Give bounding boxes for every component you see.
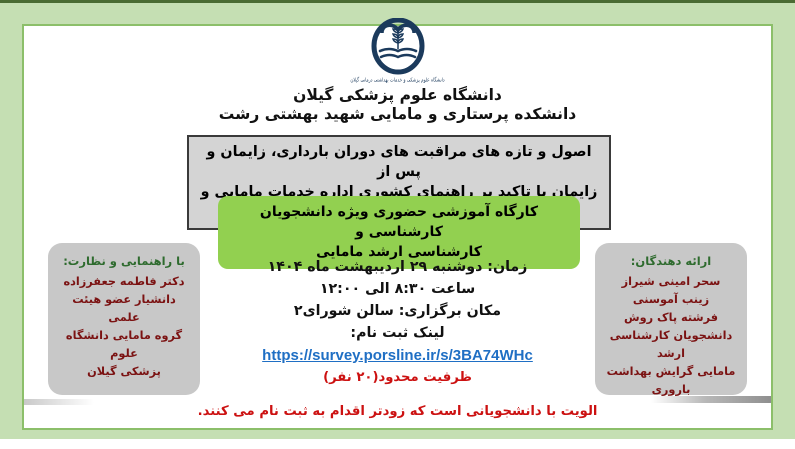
event-time: ساعت ۸:۳۰ الی ۱۲:۰۰ <box>210 278 585 300</box>
university-logo: دانشگاه علوم پزشکی و خدمات بهداشتی درمان… <box>0 18 795 82</box>
event-details: زمان: دوشنبه ۲۹ اردیبهشت ماه ۱۴۰۴ ساعت ۸… <box>210 256 585 388</box>
registration-link-label: لینک ثبت نام: <box>210 322 585 344</box>
supervision-line: پزشکی گیلان <box>56 363 192 381</box>
event-date: زمان: دوشنبه ۲۹ اردیبهشت ماه ۱۴۰۴ <box>210 256 585 278</box>
event-venue: مکان برگزاری: سالن شورای۲ <box>210 300 585 322</box>
ministry-of-health-emblem-icon <box>371 18 425 76</box>
presenter-line: مامایی گرایش بهداشت باروری <box>603 363 739 399</box>
supervision-line: دانشیار عضو هیئت علمی <box>56 291 192 327</box>
presenter-line: زینب آموسنی <box>603 291 739 309</box>
priority-note: الویت با دانشجویانی است که زودتر اقدام ب… <box>120 402 675 422</box>
supervision-line: گروه مامایی دانشگاه علوم <box>56 327 192 363</box>
faculty-name: دانشکده پرستاری و مامایی شهید بهشتی رشت <box>0 105 795 124</box>
university-name: دانشگاه علوم پزشکی گیلان <box>0 86 795 105</box>
decorative-shadow-left <box>24 399 94 405</box>
audience-line-1: کارگاه آموزشی حضوری ویژه دانشجویان کارشن… <box>228 202 570 242</box>
registration-link[interactable]: https://survey.porsline.ir/s/3BA74WHc <box>262 344 533 367</box>
logo-caption: دانشگاه علوم پزشکی و خدمات بهداشتی درمان… <box>350 76 444 83</box>
presenter-line: فرشته پاک روش <box>603 309 739 327</box>
institution-heading: دانشگاه علوم پزشکی گیلان دانشکده پرستاری… <box>0 86 795 124</box>
presenters-panel-title: ارائه دهندگان: <box>603 253 739 269</box>
supervision-line: دکتر فاطمه جعفرزاده <box>56 273 192 291</box>
presenter-line: سحر امینی شیراز <box>603 273 739 291</box>
capacity-note: ظرفیت محدود(۲۰ نفر) <box>210 367 585 388</box>
supervision-panel: با راهنمایی و نظارت: دکتر فاطمه جعفرزاده… <box>48 243 200 395</box>
presenters-panel: ارائه دهندگان: سحر امینی شیراز زینب آموس… <box>595 243 747 395</box>
presenter-line: دانشجویان کارشناسی ارشد <box>603 327 739 363</box>
workshop-poster: دانشگاه علوم پزشکی و خدمات بهداشتی درمان… <box>0 0 795 449</box>
supervision-panel-title: با راهنمایی و نظارت: <box>56 253 192 269</box>
workshop-title-line-1: اصول و تازه های مراقبت های دوران بارداری… <box>197 142 601 182</box>
poster-bottom-margin <box>0 439 795 449</box>
